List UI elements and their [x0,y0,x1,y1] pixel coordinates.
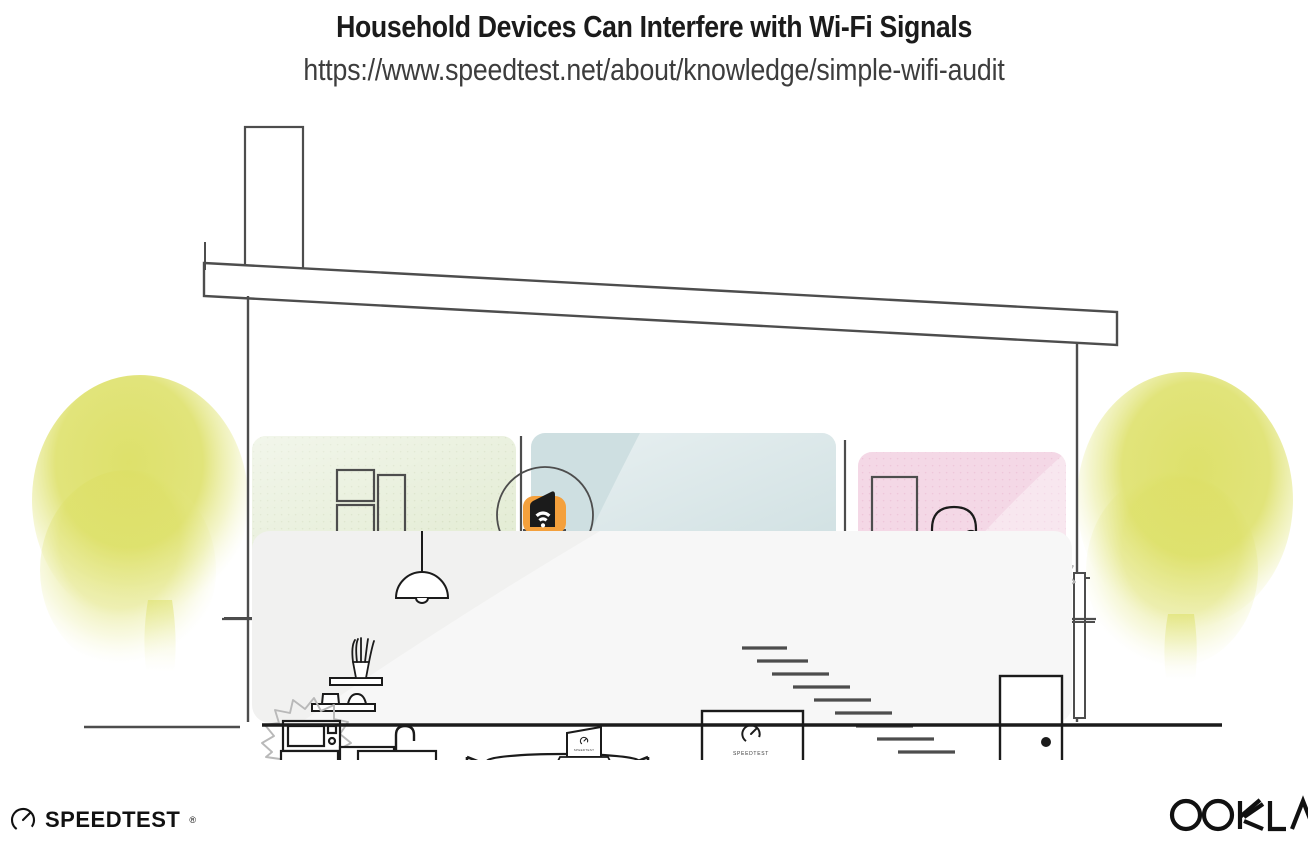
svg-text:SPEEDTEST: SPEEDTEST [574,748,595,752]
speedtest-wordmark: SPEEDTEST [45,807,180,833]
footer: SPEEDTEST ® [0,771,1308,861]
speedtest-logo[interactable]: SPEEDTEST ® [10,807,196,833]
header: Household Devices Can Interfere with Wi-… [0,0,1308,90]
page-title: Household Devices Can Interfere with Wi-… [92,8,1217,47]
infographic-page: Household Devices Can Interfere with Wi-… [0,0,1308,861]
speedtest-gauge-icon [10,807,36,833]
wifi-router[interactable] [523,491,566,534]
slanted-roof [204,242,1117,345]
chimney [245,127,303,272]
speedtest-trademark: ® [189,815,196,825]
shelf-upper [330,678,382,685]
front-door[interactable] [1000,676,1062,760]
television[interactable]: SPEEDTEST [702,711,803,760]
ookla-logo[interactable] [1164,795,1308,835]
source-url: https://www.speedtest.net/about/knowledg… [92,51,1217,90]
svg-text:SPEEDTEST: SPEEDTEST [733,751,769,757]
sink-faucet [396,726,414,751]
house-cutaway-illustration: SPEEDTEST [0,100,1308,760]
tree-left [32,375,248,672]
ground-line [84,725,1222,727]
door-knob[interactable] [1041,737,1051,747]
tree-right [1077,372,1293,680]
